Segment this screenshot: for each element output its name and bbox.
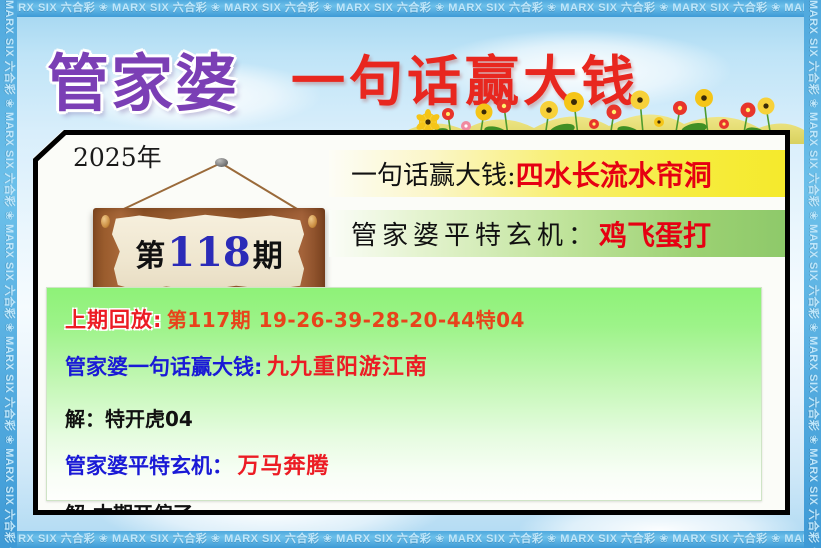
border-pattern-text: MARX SIX 六合彩 ❀ MARX SIX 六合彩 ❀ MARX SIX 六…	[0, 533, 821, 545]
hanging-sign: 第 118 期	[81, 155, 341, 305]
screw-icon	[101, 215, 110, 228]
explanation-two: 解:本期开偏了	[65, 498, 761, 527]
decorative-border-right: MARX SIX 六合彩 ❀ MARX SIX 六合彩 ❀ MARX SIX 六…	[804, 0, 821, 548]
omen-label: 管家婆平特玄机：	[65, 454, 233, 478]
issue-label: 第 118 期	[112, 214, 306, 292]
main-content-box: 2025年 第 118 期 一句话赢大钱	[33, 130, 790, 515]
explanation-one: 解：特开虎04	[65, 403, 761, 432]
sign-paper: 第 118 期	[112, 214, 306, 292]
banner-label: 一句话赢大钱:	[351, 155, 516, 192]
decorative-border-left: MARX SIX 六合彩 ❀ MARX SIX 六合彩 ❀ MARX SIX 六…	[0, 0, 17, 548]
poster-page: MARX SIX 六合彩 ❀ MARX SIX 六合彩 ❀ MARX SIX 六…	[0, 0, 821, 548]
slogan-row: 管家婆一句话赢大钱: 九九重阳游江南	[65, 349, 761, 381]
issue-suffix: 期	[253, 231, 283, 275]
recap-value: 第117期 19-26-39-28-20-44特04	[167, 308, 525, 332]
decorative-border-top: MARX SIX 六合彩 ❀ MARX SIX 六合彩 ❀ MARX SIX 六…	[0, 0, 821, 17]
border-pattern-text: MARX SIX 六合彩 ❀ MARX SIX 六合彩 ❀ MARX SIX 六…	[0, 0, 17, 548]
border-pattern-text: MARX SIX 六合彩 ❀ MARX SIX 六合彩 ❀ MARX SIX 六…	[0, 2, 821, 14]
issue-number: 118	[165, 229, 253, 276]
nail-icon	[215, 158, 228, 167]
recap-row: 上期回放: 第117期 19-26-39-28-20-44特04	[65, 304, 761, 334]
banner-omen-answer: 管家婆平特玄机： 鸡飞蛋打	[329, 210, 785, 257]
decorative-border-bottom: MARX SIX 六合彩 ❀ MARX SIX 六合彩 ❀ MARX SIX 六…	[0, 531, 821, 548]
recap-label: 上期回放:	[65, 308, 162, 332]
banner-answer: 四水长流水帘洞	[516, 154, 712, 194]
omen-row: 管家婆平特玄机： 万马奔腾	[65, 448, 761, 480]
slogan-value: 九九重阳游江南	[267, 355, 428, 380]
sign-board: 第 118 期	[93, 208, 325, 298]
banner-answer: 鸡飞蛋打	[599, 214, 711, 254]
border-pattern-text: MARX SIX 六合彩 ❀ MARX SIX 六合彩 ❀ MARX SIX 六…	[804, 0, 821, 548]
banner-slogan-answer: 一句话赢大钱: 四水长流水帘洞	[329, 150, 785, 197]
banner-label: 管家婆平特玄机：	[351, 215, 599, 252]
screw-icon	[308, 215, 317, 228]
slogan-label: 管家婆一句话赢大钱:	[65, 355, 262, 379]
omen-value: 万马奔腾	[237, 454, 329, 479]
issue-prefix: 第	[135, 231, 165, 275]
page-title: 管家婆	[47, 33, 239, 123]
previous-results-panel: 上期回放: 第117期 19-26-39-28-20-44特04 管家婆一句话赢…	[46, 287, 762, 501]
